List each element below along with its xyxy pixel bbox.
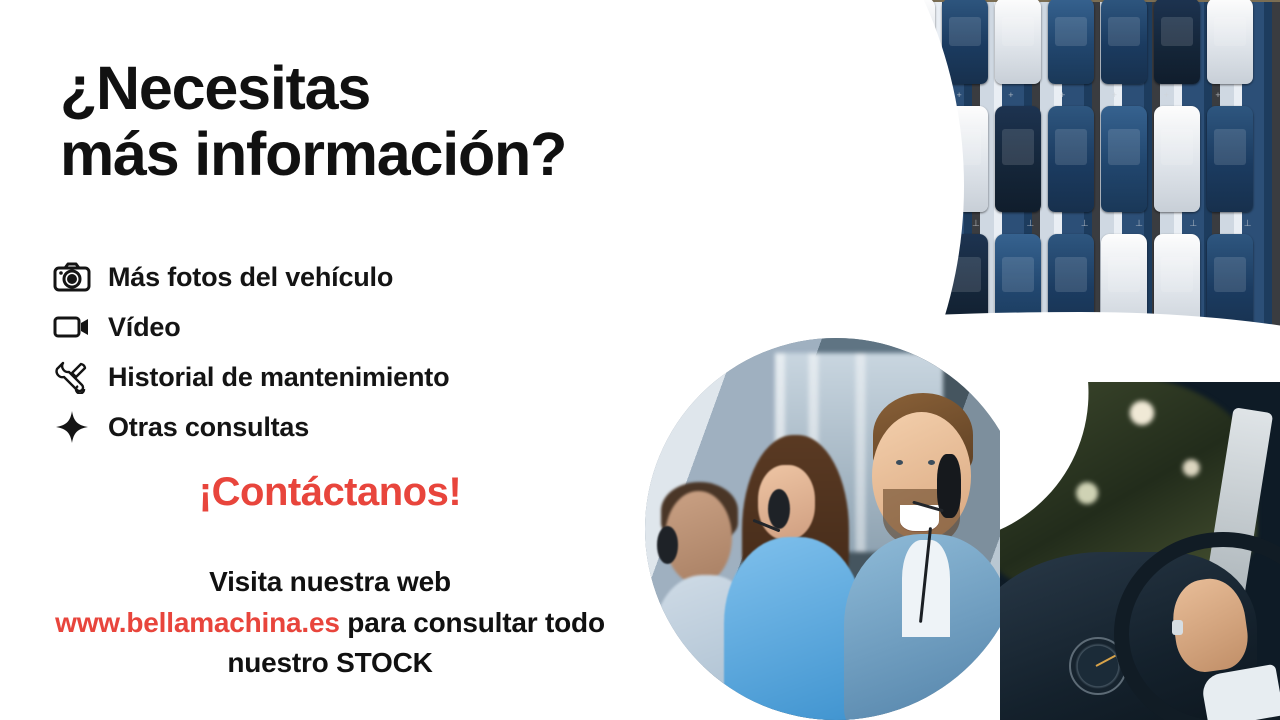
footer-line-2-rest: para consultar todo [340,607,605,638]
list-item-label: Más fotos del vehículo [108,262,393,293]
footer-line-1: Visita nuestra web [0,562,660,603]
list-item-label: Otras consultas [108,412,309,443]
tools-icon [52,360,92,394]
promo-banner: + + + + + + + + + + + + ⊥ ⊥ ⊥ ⊥ ⊥ ⊥ ⊥ ⊥ … [0,0,1280,720]
footer-line-3: nuestro STOCK [0,643,660,684]
benefits-list: Más fotos del vehículo Vídeo [52,252,652,452]
footer-text: Visita nuestra web www.bellamachina.es p… [0,562,660,684]
list-item-label: Historial de mantenimiento [108,362,449,393]
driving-interior-photo [1000,382,1280,720]
list-item-label: Vídeo [108,312,181,343]
aerial-car-lot-photo: + + + + + + + + + + + + ⊥ ⊥ ⊥ ⊥ ⊥ ⊥ ⊥ ⊥ … [620,0,1280,394]
list-item: Historial de mantenimiento [52,352,652,402]
agent-female [729,449,859,716]
website-url[interactable]: www.bellamachina.es [55,607,340,638]
footer-line-2: www.bellamachina.es para consultar todo [0,603,660,644]
list-item: Más fotos del vehículo [52,252,652,302]
camera-icon [52,260,92,294]
list-item: Vídeo [52,302,652,352]
call-center-agents-photo [645,338,1027,720]
list-item: Otras consultas [52,402,652,452]
contact-cta: ¡Contáctanos! [0,470,660,515]
video-icon [52,310,92,344]
text-column: ¿Necesitas más información? Más fotos de… [0,0,680,720]
page-title: ¿Necesitas más información? [60,56,680,188]
headline-line-2: más información? [60,122,680,188]
headline-line-1: ¿Necesitas [60,54,370,122]
sparkle-icon [52,410,92,444]
agent-male-front [847,399,1007,720]
